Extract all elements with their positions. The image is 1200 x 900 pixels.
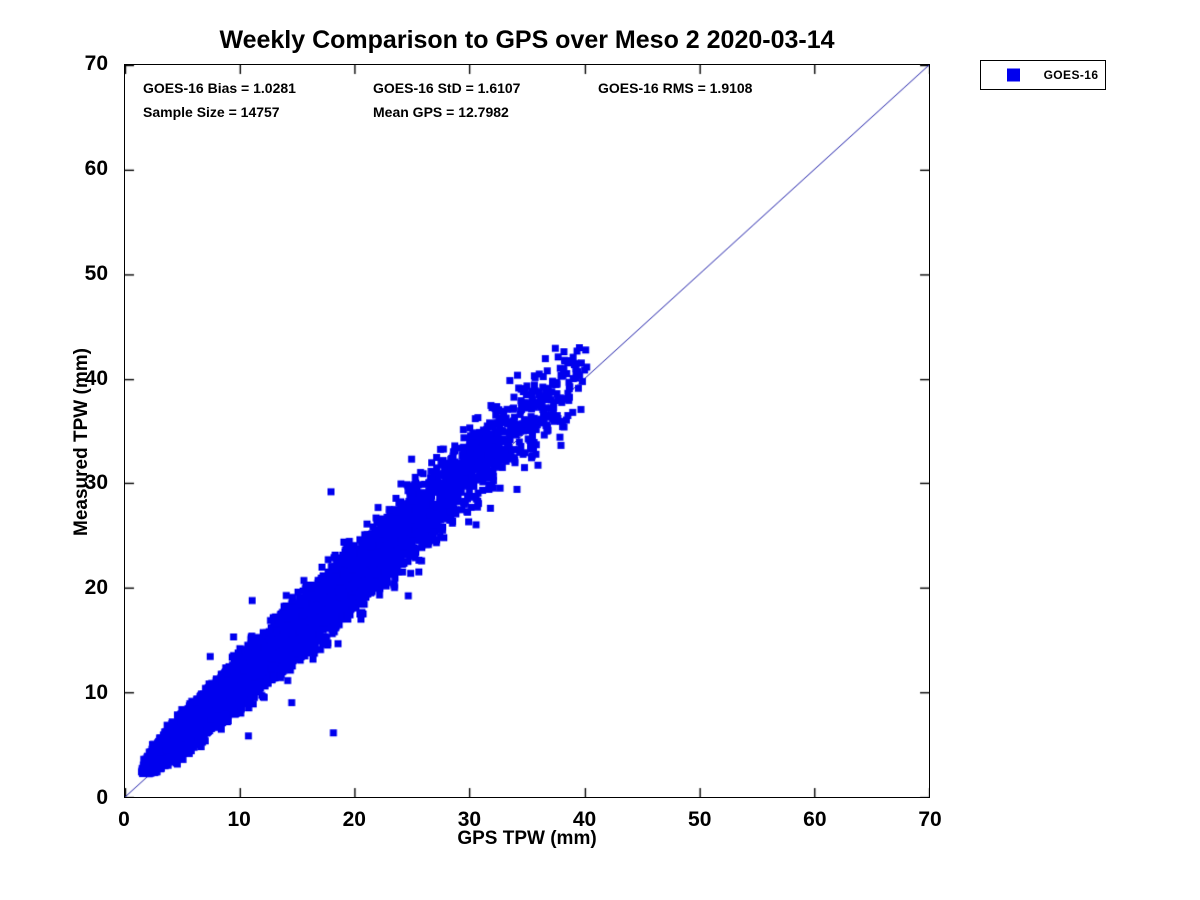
legend-swatch-icon: [1007, 69, 1020, 82]
y-tick-60: 60: [44, 157, 108, 181]
stat-sample_size: Sample Size = 14757: [143, 104, 280, 120]
y-tick-0: 0: [44, 786, 108, 810]
y-tick-50: 50: [44, 262, 108, 286]
legend-entry-goes16[interactable]: GOES-16: [981, 61, 1105, 89]
legend-label: GOES-16: [1041, 68, 1101, 82]
legend[interactable]: GOES-16: [980, 60, 1106, 90]
stat-rms: GOES-16 RMS = 1.9108: [598, 80, 752, 96]
stat-bias: GOES-16 Bias = 1.0281: [143, 80, 296, 96]
y-tick-10: 10: [44, 681, 108, 705]
scatter-canvas: [125, 65, 929, 797]
stat-std: GOES-16 StD = 1.6107: [373, 80, 520, 96]
stat-mean_gps: Mean GPS = 12.7982: [373, 104, 509, 120]
chart-title: Weekly Comparison to GPS over Meso 2 202…: [124, 26, 930, 55]
y-axis-title: Measured TPW (mm): [71, 342, 93, 542]
x-axis-title: GPS TPW (mm): [124, 828, 930, 850]
plot-area: [124, 64, 930, 798]
y-tick-70: 70: [44, 52, 108, 76]
y-tick-20: 20: [44, 576, 108, 600]
scatter-plot-figure: Weekly Comparison to GPS over Meso 2 202…: [0, 0, 1200, 900]
